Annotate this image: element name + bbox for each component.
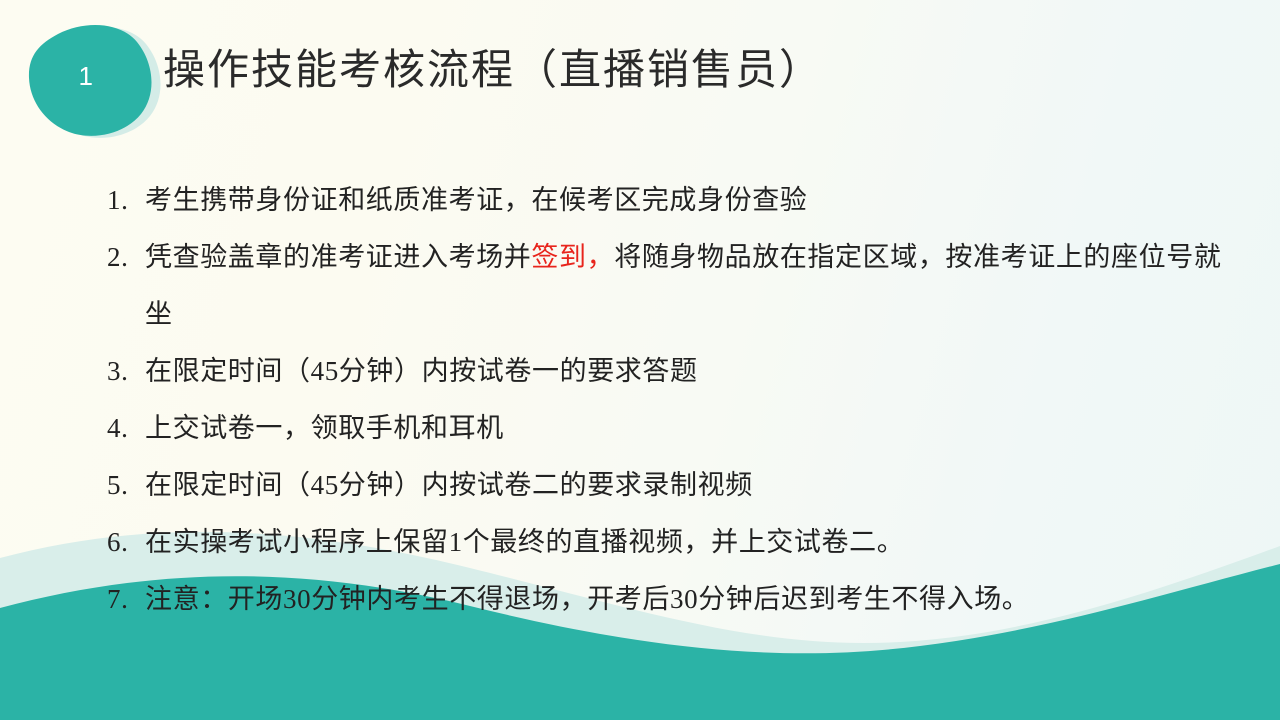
step-number: 6. <box>107 514 141 571</box>
slide-header: 1 操作技能考核流程（直播销售员） <box>0 0 1280 150</box>
step-text: 上交试卷一，领取手机和耳机 <box>145 413 504 443</box>
step-item: 7.注意：开场30分钟内考生不得退场，开考后30分钟后迟到考生不得入场。 <box>105 571 1225 628</box>
step-number: 7. <box>107 571 141 628</box>
step-number: 4. <box>107 400 141 457</box>
page-title: 操作技能考核流程（直播销售员） <box>163 48 823 94</box>
step-text-segment: 在限定时间（45分钟）内按试卷二的要求录制视频 <box>145 470 753 500</box>
step-number: 1. <box>107 172 141 229</box>
step-text: 在限定时间（45分钟）内按试卷一的要求答题 <box>145 356 698 386</box>
step-number: 2. <box>107 229 141 286</box>
slide-canvas: 1 操作技能考核流程（直播销售员） 1.考生携带身份证和纸质准考证，在候考区完成… <box>0 0 1280 720</box>
step-number: 5. <box>107 457 141 514</box>
step-text: 在限定时间（45分钟）内按试卷二的要求录制视频 <box>145 470 753 500</box>
step-text-segment: 凭查验盖章的准考证进入考场并 <box>145 242 531 272</box>
step-badge: 1 <box>22 18 172 143</box>
step-item: 2.凭查验盖章的准考证进入考场并签到，将随身物品放在指定区域，按准考证上的座位号… <box>105 229 1225 343</box>
steps-list: 1.考生携带身份证和纸质准考证，在候考区完成身份查验2.凭查验盖章的准考证进入考… <box>105 172 1225 628</box>
step-item: 4.上交试卷一，领取手机和耳机 <box>105 400 1225 457</box>
step-text-segment: 在实操考试小程序上保留1个最终的直播视频，并上交试卷二。 <box>145 527 904 557</box>
step-text-segment: 上交试卷一，领取手机和耳机 <box>145 413 504 443</box>
step-text: 注意：开场30分钟内考生不得退场，开考后30分钟后迟到考生不得入场。 <box>145 584 1029 614</box>
step-item: 3.在限定时间（45分钟）内按试卷一的要求答题 <box>105 343 1225 400</box>
badge-number-label: 1 <box>22 18 172 143</box>
step-text: 在实操考试小程序上保留1个最终的直播视频，并上交试卷二。 <box>145 527 904 557</box>
step-item: 1.考生携带身份证和纸质准考证，在候考区完成身份查验 <box>105 172 1225 229</box>
step-item: 5.在限定时间（45分钟）内按试卷二的要求录制视频 <box>105 457 1225 514</box>
step-number: 3. <box>107 343 141 400</box>
step-text: 考生携带身份证和纸质准考证，在候考区完成身份查验 <box>145 185 807 215</box>
step-item: 6.在实操考试小程序上保留1个最终的直播视频，并上交试卷二。 <box>105 514 1225 571</box>
step-text: 凭查验盖章的准考证进入考场并签到，将随身物品放在指定区域，按准考证上的座位号就坐 <box>145 242 1221 329</box>
step-text-segment: 在限定时间（45分钟）内按试卷一的要求答题 <box>145 356 698 386</box>
step-text-highlight: 签到， <box>531 242 614 272</box>
step-text-segment: 考生携带身份证和纸质准考证，在候考区完成身份查验 <box>145 185 807 215</box>
step-text-segment: 注意：开场30分钟内考生不得退场，开考后30分钟后迟到考生不得入场。 <box>145 584 1029 614</box>
